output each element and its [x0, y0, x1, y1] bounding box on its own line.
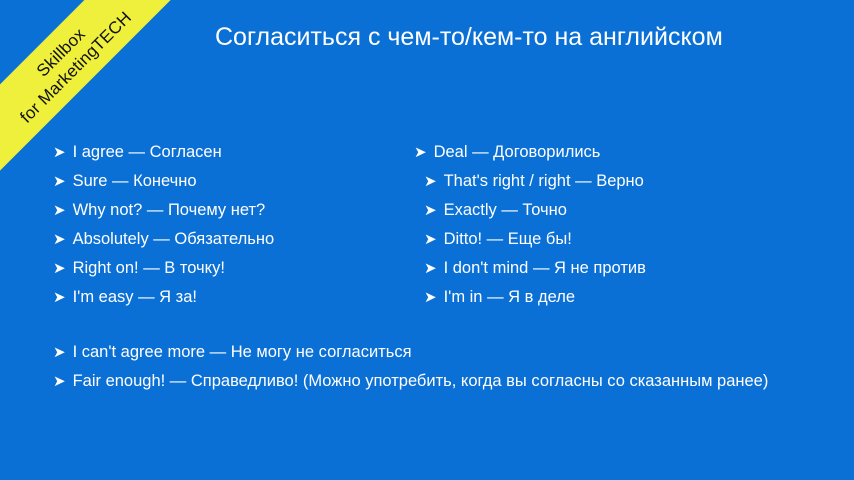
phrase-item: ➤I'm easy — Я за! — [53, 283, 393, 312]
arrow-bullet-icon: ➤ — [53, 225, 66, 254]
phrase-item: ➤Deal — Договорились — [414, 138, 814, 167]
phrase-item: ➤That's right / right — Верно — [414, 167, 814, 196]
arrow-bullet-icon: ➤ — [424, 167, 437, 196]
phrase-text: I agree — Согласен — [73, 143, 222, 161]
slide-canvas: Skillbox for MarketingTECH Согласиться с… — [0, 0, 854, 480]
phrase-text: That's right / right — Верно — [444, 172, 644, 190]
arrow-bullet-icon: ➤ — [424, 254, 437, 283]
phrase-text: Exactly — Точно — [444, 201, 567, 219]
phrase-item: ➤Right on! — В точку! — [53, 254, 393, 283]
phrase-text: Why not? — Почему нет? — [73, 201, 266, 219]
arrow-bullet-icon: ➤ — [424, 283, 437, 312]
phrase-text: I'm in — Я в деле — [444, 288, 575, 306]
phrase-item: ➤Fair enough! — Справедливо! (Можно упот… — [53, 367, 793, 396]
phrase-item: ➤Exactly — Точно — [414, 196, 814, 225]
arrow-bullet-icon: ➤ — [53, 338, 66, 367]
phrase-item: ➤I agree — Согласен — [53, 138, 393, 167]
phrase-item: ➤Ditto! — Еще бы! — [414, 225, 814, 254]
phrase-text: I can't agree more — Не могу не согласит… — [73, 343, 412, 361]
arrow-bullet-icon: ➤ — [53, 196, 66, 225]
ribbon-brand-line1: Skillbox — [32, 23, 89, 80]
phrase-item: ➤Absolutely — Обязательно — [53, 225, 393, 254]
phrase-item: ➤I don't mind — Я не против — [414, 254, 814, 283]
phrase-text: Sure — Конечно — [73, 172, 197, 190]
phrase-text: Deal — Договорились — [434, 143, 601, 161]
arrow-bullet-icon: ➤ — [414, 138, 427, 167]
phrase-item: ➤Sure — Конечно — [53, 167, 393, 196]
phrase-item: ➤I'm in — Я в деле — [414, 283, 814, 312]
arrow-bullet-icon: ➤ — [424, 225, 437, 254]
phrase-text: I don't mind — Я не против — [444, 259, 646, 277]
phrase-text: Ditto! — Еще бы! — [444, 230, 572, 248]
phrase-list-right: ➤Deal — Договорились➤That's right / righ… — [414, 138, 814, 312]
phrase-text: I'm easy — Я за! — [73, 288, 197, 306]
phrase-item: ➤Why not? — Почему нет? — [53, 196, 393, 225]
phrase-text: Right on! — В точку! — [73, 259, 225, 277]
arrow-bullet-icon: ➤ — [53, 254, 66, 283]
phrase-text: Fair enough! — Справедливо! (Можно употр… — [73, 372, 769, 390]
arrow-bullet-icon: ➤ — [53, 167, 66, 196]
phrase-list-bottom: ➤I can't agree more — Не могу не согласи… — [53, 338, 793, 396]
phrase-text: Absolutely — Обязательно — [73, 230, 275, 248]
phrase-item: ➤I can't agree more — Не могу не согласи… — [53, 338, 793, 367]
ribbon-brand-line2: for MarketingTECH — [15, 7, 135, 127]
arrow-bullet-icon: ➤ — [53, 138, 66, 167]
slide-title: Согласиться с чем-то/кем-то на английско… — [215, 21, 723, 53]
phrase-list-left: ➤I agree — Согласен➤Sure — Конечно➤Why n… — [53, 138, 393, 312]
arrow-bullet-icon: ➤ — [53, 367, 66, 396]
arrow-bullet-icon: ➤ — [53, 283, 66, 312]
arrow-bullet-icon: ➤ — [424, 196, 437, 225]
